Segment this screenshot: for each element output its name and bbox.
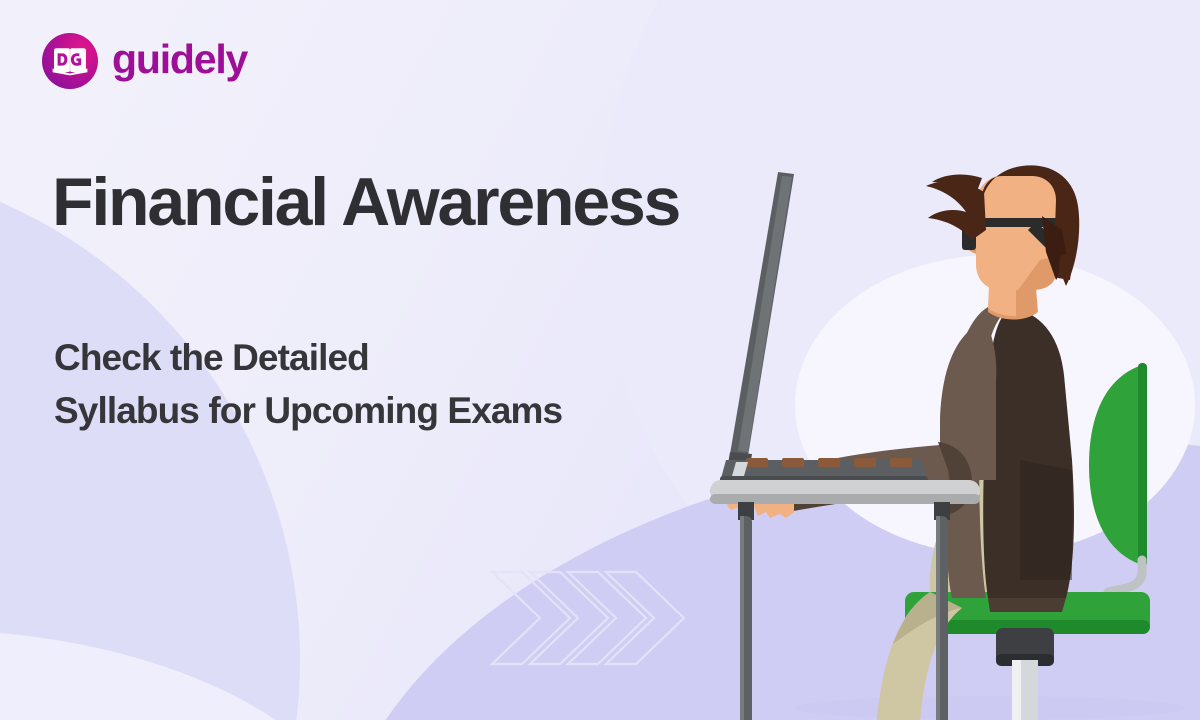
office-chair-back: [1089, 363, 1147, 567]
page-subtitle-line-1: Check the Detailed: [54, 332, 562, 385]
chair-post-upper: [1108, 560, 1142, 592]
page-subtitle-line-2: Syllabus for Upcoming Exams: [54, 385, 562, 438]
background-blob-bottom-left: [0, 160, 300, 720]
man-working-on-laptop-illustration: [690, 160, 1200, 720]
brand-logo[interactable]: guidely: [42, 33, 247, 89]
laptop: [720, 172, 928, 486]
promo-banner: guidely Financial Awareness Check the De…: [0, 0, 1200, 720]
page-title: Financial Awareness: [52, 168, 679, 237]
desk: [710, 480, 980, 504]
brand-wordmark: guidely: [112, 39, 247, 83]
floor-shadow: [795, 696, 1185, 720]
open-book-dg-icon: [42, 33, 98, 89]
page-subtitle: Check the Detailed Syllabus for Upcoming…: [54, 332, 562, 437]
double-chevron-right-icon: [488, 568, 688, 668]
